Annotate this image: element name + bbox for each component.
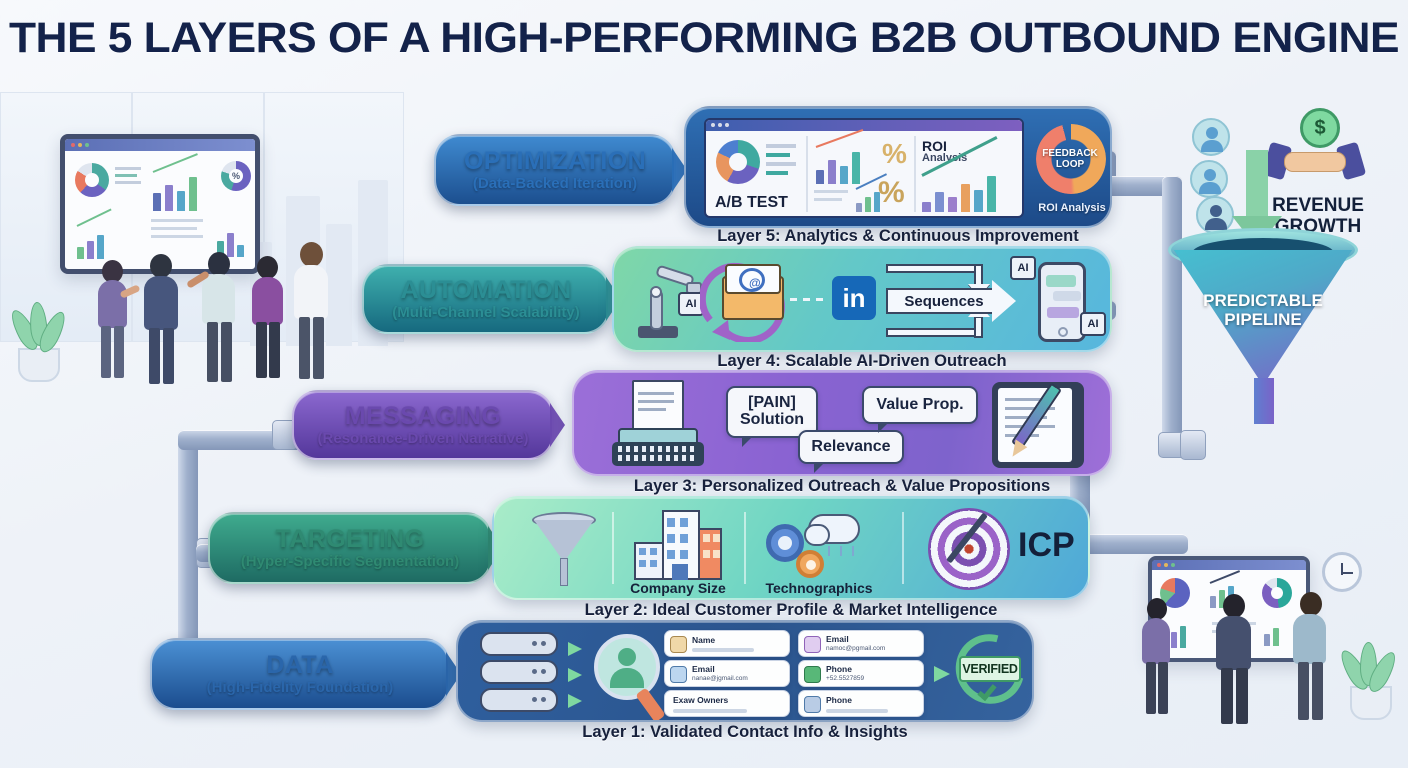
layer-pill-title: AUTOMATION (400, 277, 571, 303)
funnel-icon (532, 512, 596, 588)
layer-panel-targeting: Company Size Technographics ICP (492, 496, 1090, 600)
person-figure (1138, 598, 1176, 720)
typewriter-icon (610, 380, 706, 472)
tablet-with-pen-icon (992, 382, 1084, 468)
predictable-pipeline-label: PREDICTABLE PIPELINE (1182, 292, 1344, 329)
person-figure (1210, 594, 1256, 728)
wall-clock-icon (1322, 552, 1362, 592)
pipe-joint (1180, 430, 1206, 460)
technographics-label: Technographics (750, 580, 888, 596)
layer-panel-data: Name Email nanae@jgmail.com Exaw Owners … (456, 620, 1034, 722)
avatar (1190, 160, 1228, 198)
percent-symbol-1: % (882, 138, 907, 170)
contact-card: Phone (798, 690, 924, 717)
person-figure (1288, 592, 1332, 724)
layer-pill-subtitle: (Resonance-Driven Narrative) (318, 431, 529, 447)
office-illustration-left: % (0, 92, 430, 437)
contact-card: Phone +52.5527859 (798, 660, 924, 687)
ai-chip-2: AI (1010, 256, 1036, 280)
magnifier-profile-icon (594, 634, 660, 700)
sequences-arrow-label: Sequences (892, 293, 996, 310)
layer-pill-automation[interactable]: AUTOMATION (Multi-Channel Scalability) (362, 264, 610, 334)
feedback-loop-label-line1: FEEDBACK (1042, 148, 1098, 159)
technographics-icon (766, 512, 866, 578)
office-illustration-right (1092, 520, 1408, 768)
pipeline-funnel: PREDICTABLE PIPELINE (1168, 228, 1358, 433)
percent-symbol-2: % (878, 176, 905, 210)
flow-arrow-icon (934, 666, 950, 682)
ai-chip-3: AI (1080, 312, 1106, 336)
contact-card: Email namoc@pgmail.com (798, 630, 924, 657)
flow-arrow-icon (568, 668, 582, 682)
down-arrow-icon (1246, 150, 1268, 222)
handshake-icon (1266, 140, 1364, 182)
layer-caption-4: Layer 4: Scalable AI-Driven Outreach (612, 352, 1112, 371)
avatar (1192, 118, 1230, 156)
company-building-icon (634, 510, 722, 580)
layer-pill-messaging[interactable]: MESSAGING (Resonance-Driven Narrative) (292, 390, 554, 460)
layer-pill-optimization[interactable]: OPTIMIZATION (Data-Backed Iteration) (434, 134, 676, 206)
person-figure (288, 242, 334, 388)
layer-pill-subtitle: (High-Fidelity Foundation) (207, 680, 394, 696)
layer-caption-1: Layer 1: Validated Contact Info & Insigh… (456, 723, 1034, 742)
layer-pill-title: MESSAGING (345, 403, 501, 429)
flow-arrow-icon (568, 694, 582, 708)
feedback-loop-label-line2: LOOP (1042, 159, 1098, 170)
ab-test-label: A/B TEST (715, 194, 788, 212)
layer-pill-data[interactable]: DATA (High-Fidelity Foundation) (150, 638, 450, 710)
layer-pill-subtitle: (Data-Backed Iteration) (473, 176, 637, 192)
layer-pill-title: DATA (266, 652, 333, 678)
mobile-phone-icon (1038, 262, 1086, 342)
person-figure (196, 252, 242, 388)
layer-panel-automation: AI @ in Sequ (612, 246, 1112, 352)
layer-pill-targeting[interactable]: TARGETING (Hyper-Specific Segmentation) (208, 512, 492, 584)
layer-caption-2: Layer 2: Ideal Customer Profile & Market… (492, 601, 1090, 620)
contact-card: Email nanae@jgmail.com (664, 660, 790, 687)
layer-pill-subtitle: (Multi-Channel Scalability) (392, 305, 580, 321)
page-title: THE 5 LAYERS OF A HIGH-PERFORMING B2B OU… (0, 14, 1408, 63)
email-envelope-icon: @ (722, 276, 784, 320)
layer-caption-5: Layer 5: Analytics & Continuous Improvem… (684, 227, 1112, 246)
roi-analysis-label: ROI Analysis (1034, 202, 1110, 214)
sequences-arrow: Sequences (886, 264, 1022, 338)
layer-pill-title: TARGETING (276, 526, 425, 552)
layer-caption-3: Layer 3: Personalized Outreach & Value P… (572, 477, 1112, 496)
linkedin-icon[interactable]: in (832, 276, 876, 320)
contact-card: Exaw Owners (664, 690, 790, 717)
verified-badge: VERIFIED (956, 634, 1024, 704)
infographic-canvas: THE 5 LAYERS OF A HIGH-PERFORMING B2B OU… (0, 0, 1408, 768)
person-figure (246, 256, 288, 388)
pipe-segment (178, 430, 198, 670)
icp-label: ICP (1018, 526, 1075, 565)
layer-panel-messaging: [PAIN] Solution Relevance Value Prop. (572, 370, 1112, 476)
layer-panel-optimization: A/B TEST % % ROI A (684, 106, 1112, 228)
layer-pill-subtitle: (Hyper-Specific Segmentation) (241, 554, 459, 570)
person-figure (138, 254, 182, 388)
relevance-bubble: Relevance (798, 430, 904, 464)
target-icon (928, 508, 1010, 590)
layer-pill-title: OPTIMIZATION (464, 148, 646, 174)
person-figure (92, 260, 132, 388)
company-size-label: Company Size (622, 580, 734, 596)
value-prop-bubble: Value Prop. (862, 386, 978, 424)
flow-arrow-icon (568, 642, 582, 656)
contact-card: Name (664, 630, 790, 657)
database-icon (480, 632, 558, 714)
